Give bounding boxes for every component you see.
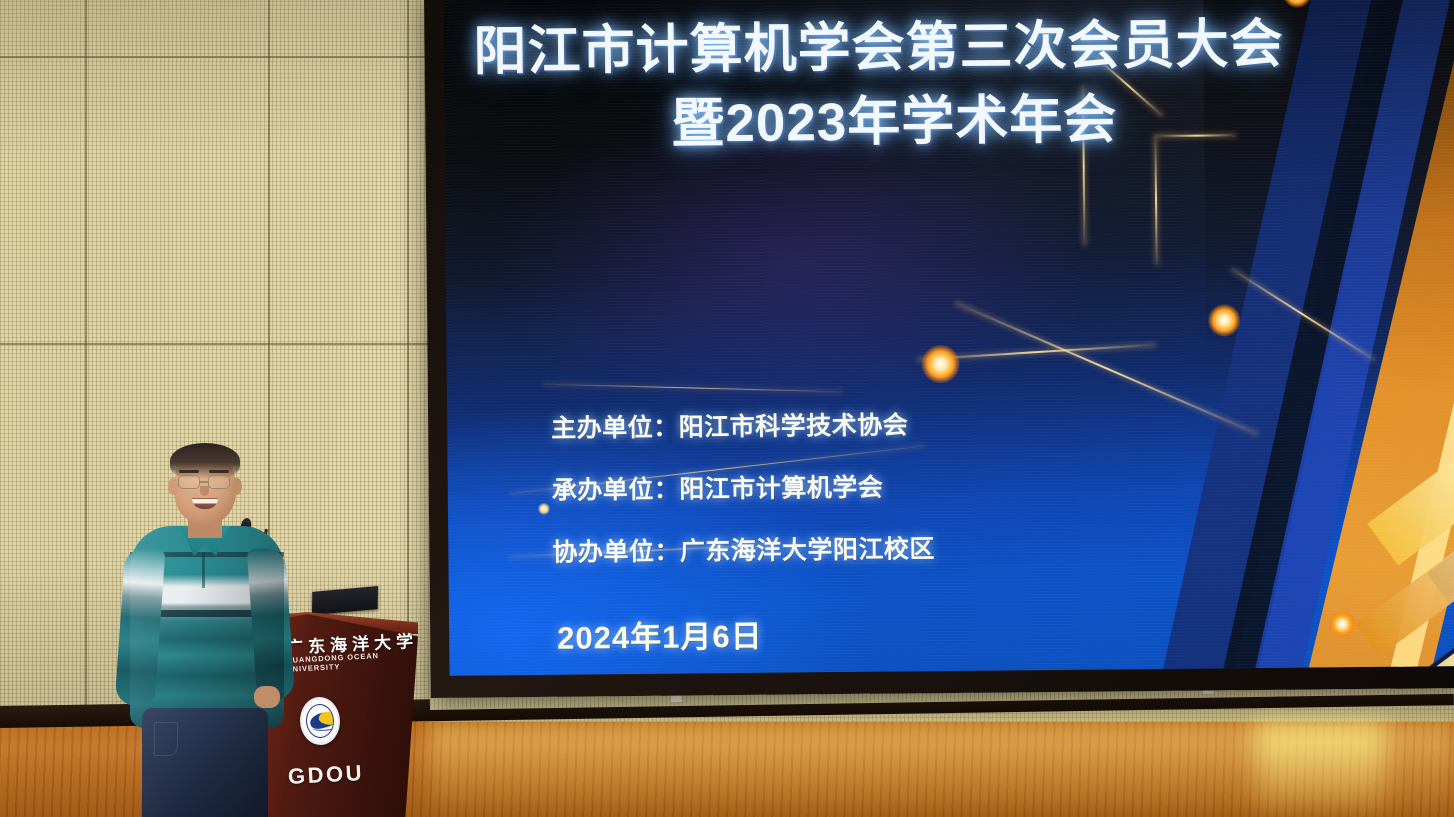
organizer-line-host: 主办单位：阳江市科学技术协会 <box>551 405 934 445</box>
speaker-placket <box>202 552 205 588</box>
screen-date: 2024年1月6日 <box>557 611 763 658</box>
glasses-lens-right <box>208 475 230 489</box>
glasses-lens-left <box>178 475 200 489</box>
speaker <box>120 440 320 817</box>
speaker-eyebrow <box>209 470 229 473</box>
speaker-eyebrow <box>179 470 199 473</box>
speaker-hair <box>170 443 240 479</box>
speaker-hand <box>254 686 280 708</box>
glow-node <box>1329 611 1355 637</box>
glow-node <box>1208 304 1240 336</box>
led-screen-frame: 阳江市计算机学会第三次会员大会 暨2023年学术年会 主办单位：阳江市科学技术协… <box>424 0 1454 698</box>
organizer-line-organizer: 承办单位：阳江市计算机学会 <box>552 467 935 507</box>
organizer-block: 主办单位：阳江市科学技术协会 承办单位：阳江市计算机学会 协办单位：广东海洋大学… <box>551 405 935 595</box>
glow-node-small <box>538 503 550 515</box>
organizer-line-coorganizer: 协办单位：广东海洋大学阳江校区 <box>552 529 935 569</box>
screen-title-line1: 阳江市计算机学会第三次会员大会 <box>473 0 1454 86</box>
speaker-nose <box>200 486 209 496</box>
screen-title-line2: 暨2023年学术年会 <box>444 75 1345 160</box>
speaker-ear <box>232 478 242 495</box>
led-screen: 阳江市计算机学会第三次会员大会 暨2023年学术年会 主办单位：阳江市科学技术协… <box>443 0 1454 676</box>
glow-node <box>921 345 959 383</box>
jeans-shading <box>142 708 268 817</box>
speaker-ear <box>168 478 178 495</box>
glasses-bridge <box>200 481 208 483</box>
conference-photo: 阳江市计算机学会第三次会员大会 暨2023年学术年会 主办单位：阳江市科学技术协… <box>0 0 1454 817</box>
floor-highlight <box>1255 722 1385 817</box>
